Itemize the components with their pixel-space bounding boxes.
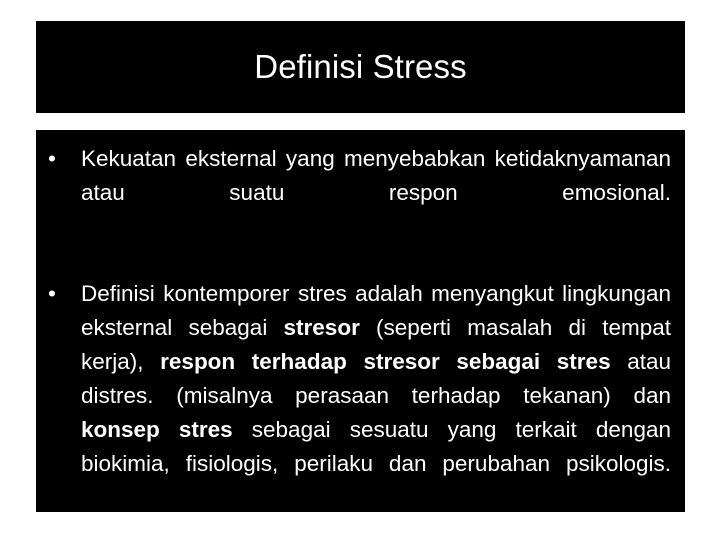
emphasis-text: stresor [284, 315, 360, 340]
bullet-list: • Kekuatan eksternal yang menyebabkan ke… [46, 142, 671, 515]
emphasis-text: konsep stres [81, 417, 233, 442]
body-text: Kekuatan eksternal yang menyebabkan keti… [81, 146, 671, 205]
list-item[interactable]: • Kekuatan eksternal yang menyebabkan ke… [46, 142, 671, 244]
bullet-point-icon: • [48, 277, 68, 311]
slide: Definisi Stress • Kekuatan eksternal yan… [0, 0, 720, 540]
slide-body-placeholder[interactable]: • Kekuatan eksternal yang menyebabkan ke… [36, 130, 685, 512]
emphasis-text: respon terhadap stresor sebagai stres [160, 349, 610, 374]
bullet-point-icon: • [48, 142, 68, 176]
list-item[interactable]: • Definisi kontemporer stres adalah meny… [46, 277, 671, 515]
page-title: Definisi Stress [254, 48, 466, 86]
bullet-1-text: Kekuatan eksternal yang menyebabkan keti… [81, 146, 671, 239]
slide-title-placeholder[interactable]: Definisi Stress [36, 21, 685, 113]
bullet-2-text: Definisi kontemporer stres adalah menyan… [81, 281, 671, 510]
